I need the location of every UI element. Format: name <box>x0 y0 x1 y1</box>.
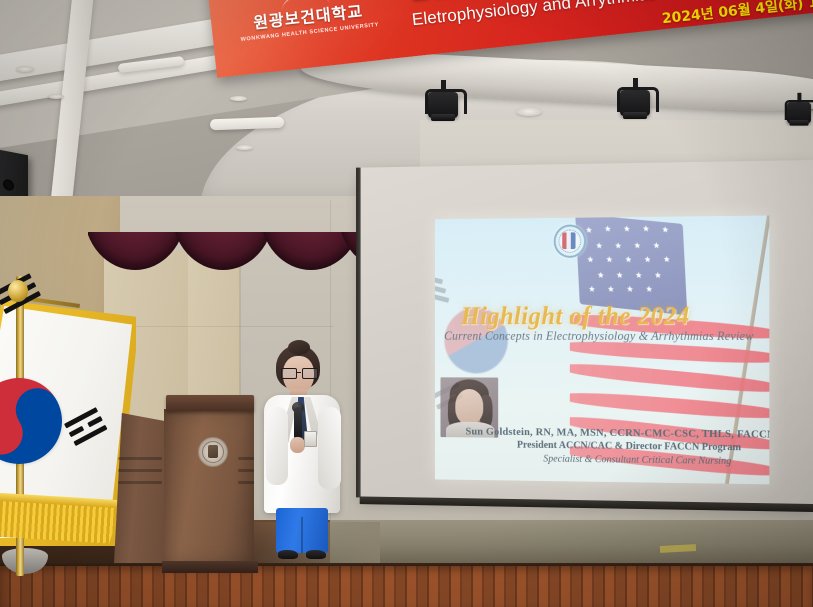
spotlight-lens <box>789 120 808 126</box>
korea-flag-trigram-bar-1 <box>435 272 443 284</box>
ceiling-downlight-4 <box>236 145 253 150</box>
speaker-shoe-left <box>278 550 298 559</box>
university-seal-emblem <box>198 437 228 467</box>
stage-curtain-valance <box>88 232 364 276</box>
slide-presenter-name: Sun Goldstein, RN, MA, MSN, CCRN-CMC-CSC… <box>466 426 763 441</box>
lectern-groove-2 <box>118 469 162 472</box>
ceiling-downlight-2 <box>48 94 64 99</box>
stage-spotlight-far-right <box>784 96 813 128</box>
speaker-in-white-lab-coat <box>252 345 356 560</box>
lectern-base <box>162 561 258 573</box>
spotlight-lens <box>431 114 455 121</box>
ceiling-downlight-1 <box>16 66 34 72</box>
speaker-arm-left <box>266 407 288 485</box>
lectern-groove-1 <box>118 457 162 460</box>
lectern-front-face <box>164 409 254 565</box>
lectern-side-wing <box>114 413 170 563</box>
glasses-bridge <box>296 372 301 373</box>
seal-shield <box>562 232 575 249</box>
stage-front-edge-slats <box>0 566 813 607</box>
speaker-arm-right <box>318 407 341 489</box>
slide-title: Highlight of the 2024 <box>461 301 748 331</box>
speaker-shoe-right <box>306 550 326 559</box>
spotlight-lens <box>623 112 647 119</box>
stage-spotlight-left <box>424 84 462 124</box>
flag-pole-finial <box>8 280 28 302</box>
lectern-reading-surface <box>166 395 254 411</box>
glasses-lens-right <box>302 368 318 379</box>
speaker-driver-top <box>3 178 14 191</box>
portrait-face <box>455 389 483 424</box>
stage-spotlight-right <box>616 82 654 122</box>
slide-subtitle: Current Concepts in Electrophysiology & … <box>444 329 769 344</box>
emblem-glyph <box>208 445 218 458</box>
speaker-hair-bun <box>288 340 310 355</box>
ceiling-downlight-5 <box>516 107 542 116</box>
lectern-groove-3 <box>118 481 162 484</box>
wall-seam-3 <box>104 326 334 327</box>
organization-seal-icon <box>554 224 586 257</box>
scrub-pants-seam <box>301 517 303 553</box>
handheld-microphone <box>294 407 302 441</box>
slide-presenter-role: President ACCN/CAC & Director FACCN Prog… <box>517 440 767 454</box>
conference-hall-photo: 원광보건대학교 WONKWANG HEALTH SCIENCE UNIVERSI… <box>0 0 813 607</box>
university-logo: 원광보건대학교 WONKWANG HEALTH SCIENCE UNIVERSI… <box>232 0 385 44</box>
speaker-hand <box>290 437 305 453</box>
valance-swag-1 <box>88 232 186 270</box>
glasses-lens-left <box>281 368 297 379</box>
wooden-lectern <box>114 395 254 570</box>
id-badge <box>304 431 317 447</box>
projection-screen-left-edge <box>356 168 361 498</box>
ceiling-downlight-3 <box>230 96 247 101</box>
us-flag-stripe-3 <box>570 360 770 395</box>
valance-swag-2 <box>172 232 274 270</box>
presentation-slide: ★ ★ ★ ★ ★ ★ ★ ★ ★ ★ ★ ★ ★ ★ ★ ★ ★ <box>435 215 769 484</box>
eyeglasses-icon <box>281 368 316 377</box>
projection-screen: ★ ★ ★ ★ ★ ★ ★ ★ ★ ★ ★ ★ ★ ★ ★ ★ ★ <box>360 160 813 505</box>
